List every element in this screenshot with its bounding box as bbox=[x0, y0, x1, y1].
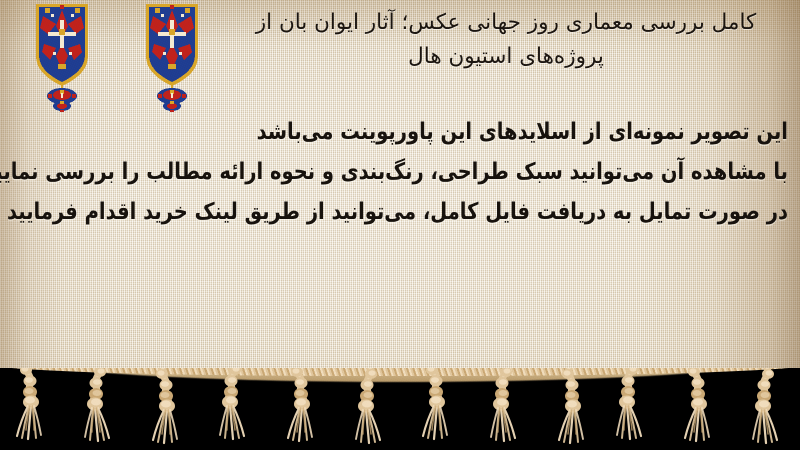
knotted-carpet-fringe-tassel-icon bbox=[144, 368, 186, 446]
knotted-carpet-fringe-tassel-icon bbox=[676, 368, 718, 444]
slide-body-text: این تصویر نمونه‌ای از اسلایدهای این پاور… bbox=[40, 112, 788, 232]
knotted-carpet-fringe-tassel-icon bbox=[482, 368, 524, 444]
carpet-fringe-band bbox=[0, 368, 800, 450]
knotted-carpet-fringe-tassel-icon bbox=[211, 368, 253, 442]
tassel-row bbox=[0, 368, 800, 450]
slide-canvas: کامل بررسی معماری روز جهانی عکس؛ آثار ای… bbox=[0, 0, 800, 450]
slide-title: کامل بررسی معماری روز جهانی عکس؛ آثار ای… bbox=[226, 6, 786, 74]
slide-title-line-1: کامل بررسی معماری روز جهانی عکس؛ آثار ای… bbox=[226, 6, 786, 40]
knotted-carpet-fringe-tassel-icon bbox=[550, 368, 592, 446]
knotted-carpet-fringe-tassel-icon bbox=[279, 368, 321, 444]
knotted-carpet-fringe-tassel-icon bbox=[76, 368, 118, 444]
knotted-carpet-fringe-tassel-icon bbox=[414, 368, 456, 442]
knotted-carpet-fringe-tassel-icon bbox=[744, 368, 786, 446]
knotted-carpet-fringe-tassel-icon bbox=[8, 368, 50, 442]
knotted-carpet-fringe-tassel-icon bbox=[347, 368, 389, 446]
knotted-carpet-fringe-tassel-icon bbox=[608, 368, 650, 442]
slide-title-line-2: پروژه‌های استیون هال bbox=[226, 40, 786, 74]
slide-body-line-3: در صورت تمایل به دریافت فایل کامل، می‌تو… bbox=[40, 188, 788, 235]
